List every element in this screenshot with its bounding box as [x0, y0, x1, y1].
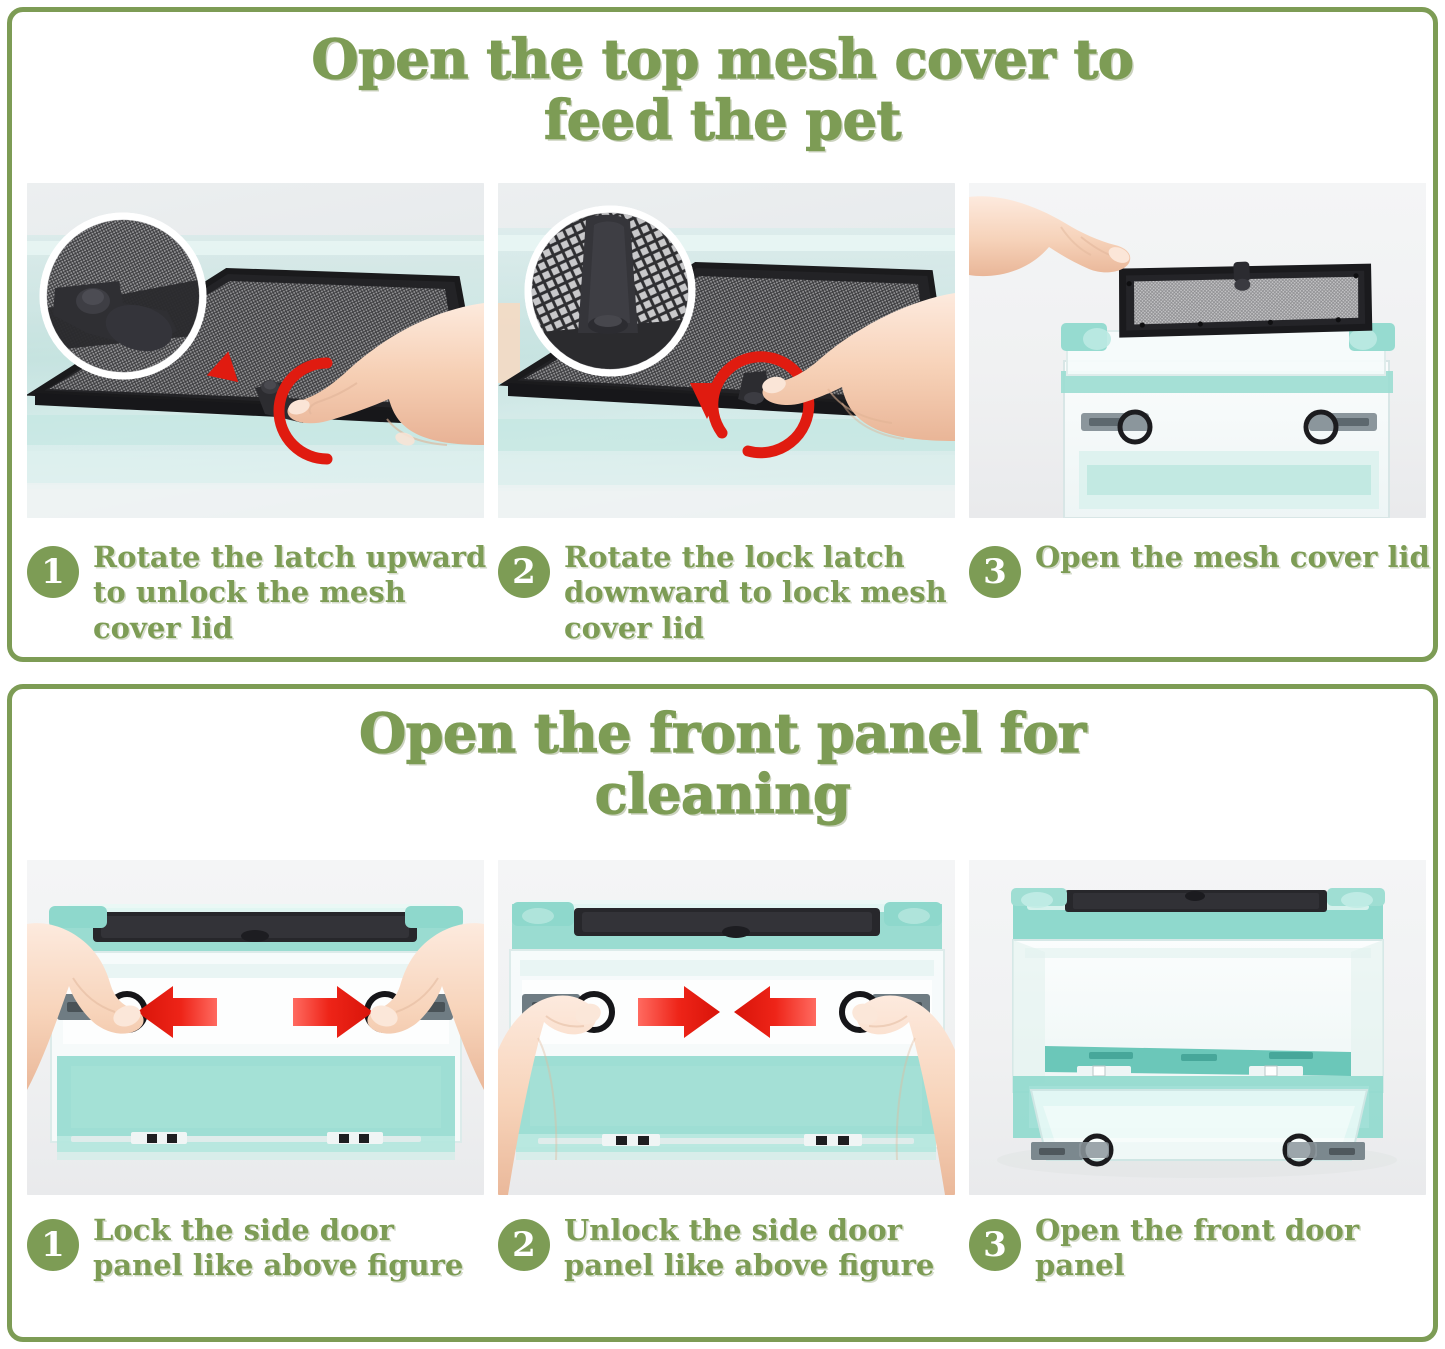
step-badge-3: 3 — [969, 546, 1021, 598]
magnifier-inset — [528, 209, 693, 375]
step-text-2: Rotate the lock latch downward to lock m… — [564, 540, 964, 646]
step-badge-2: 2 — [498, 1219, 550, 1271]
photo-rotate-latch-downward — [498, 183, 955, 518]
step-caption-2: 2 Unlock the side door panel like above … — [498, 1213, 969, 1284]
open-front-door-illustration — [969, 860, 1426, 1195]
step-caption-1: 1 Rotate the latch upward to unlock the … — [27, 540, 498, 646]
step-caption-2: 2 Rotate the lock latch downward to lock… — [498, 540, 969, 646]
photo-unlock-side-door — [498, 860, 955, 1195]
step-badge-1: 1 — [27, 546, 79, 598]
terrarium-latch-unlock-illustration — [27, 183, 484, 518]
hand-lifting — [969, 196, 1132, 276]
step-text-2: Unlock the side door panel like above fi… — [564, 1213, 964, 1284]
photo-rotate-latch-upward — [27, 183, 484, 518]
heading-line-2: cleaning — [12, 764, 1433, 825]
photo-open-mesh-cover — [969, 183, 1426, 518]
step-text-1: Rotate the latch upward to unlock the me… — [93, 540, 493, 646]
caption-row-top: 1 Rotate the latch upward to unlock the … — [27, 540, 1440, 646]
step-text-1: Lock the side door panel like above figu… — [93, 1213, 493, 1284]
photo-row-bottom — [27, 860, 1426, 1195]
heading-line-1: Open the front panel for — [12, 703, 1433, 764]
caption-row-bottom: 1 Lock the side door panel like above fi… — [27, 1213, 1440, 1284]
heading-line-2: feed the pet — [12, 90, 1433, 151]
section-top-heading: Open the top mesh cover to feed the pet — [12, 29, 1433, 151]
terrarium-latch-lock-illustration — [498, 183, 955, 518]
section-bottom-heading: Open the front panel for cleaning — [12, 703, 1433, 825]
mesh-cover-lid — [1119, 255, 1370, 340]
photo-open-front-door — [969, 860, 1426, 1195]
step-text-3: Open the mesh cover lid — [1035, 540, 1430, 575]
unlock-side-door-illustration — [498, 860, 955, 1195]
step-badge-1: 1 — [27, 1219, 79, 1271]
heading-line-1: Open the top mesh cover to — [12, 29, 1433, 90]
section-feed-the-pet: Open the top mesh cover to feed the pet — [7, 7, 1438, 662]
section-front-panel-cleaning: Open the front panel for cleaning — [7, 684, 1438, 1342]
lifting-mesh-lid-illustration — [969, 183, 1426, 518]
step-badge-2: 2 — [498, 546, 550, 598]
infographic-sheet: Open the top mesh cover to feed the pet — [0, 0, 1445, 1349]
magnifier-inset — [43, 216, 203, 376]
lock-side-door-illustration — [27, 860, 484, 1195]
step-badge-3: 3 — [969, 1219, 1021, 1271]
step-text-3: Open the front door panel — [1035, 1213, 1435, 1284]
step-caption-3: 3 Open the mesh cover lid — [969, 540, 1440, 646]
step-caption-1: 1 Lock the side door panel like above fi… — [27, 1213, 498, 1284]
step-caption-3: 3 Open the front door panel — [969, 1213, 1440, 1284]
front-door-panel-open — [1031, 1090, 1367, 1164]
photo-lock-side-door — [27, 860, 484, 1195]
photo-row-top — [27, 183, 1426, 518]
